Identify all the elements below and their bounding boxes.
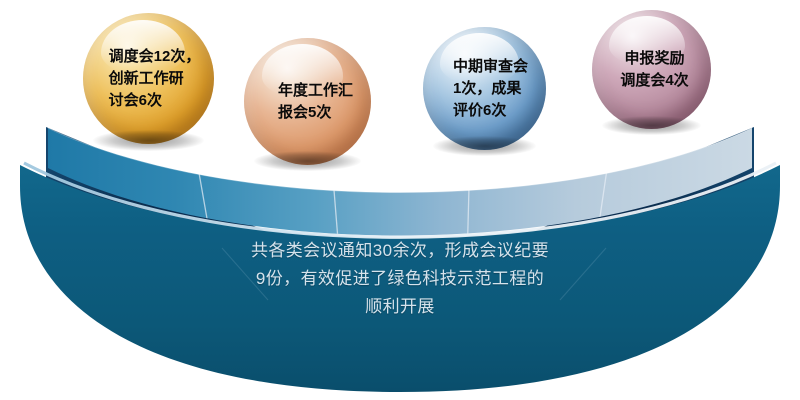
sphere-label-3: 中期审查会 1次，成果 评价6次 xyxy=(435,56,534,122)
sphere-label-4: 申报奖励 调度会4次 xyxy=(608,48,694,92)
sphere-node-3[interactable]: 中期审查会 1次，成果 评价6次 xyxy=(423,27,546,150)
diagram-canvas: 调度会12次， 创新工作研 讨会6次 年度工作汇 报会5次 中期审查会 1次，成… xyxy=(0,0,800,400)
sphere-node-1[interactable]: 调度会12次， 创新工作研 讨会6次 xyxy=(83,13,214,144)
sphere-label-2: 年度工作汇 报会5次 xyxy=(256,80,359,124)
sphere-node-4[interactable]: 申报奖励 调度会4次 xyxy=(592,10,711,129)
sphere-node-2[interactable]: 年度工作汇 报会5次 xyxy=(244,38,371,165)
banner-caption: 共各类会议通知30余次，形成会议纪要 9份，有效促进了绿色科技示范工程的 顺利开… xyxy=(200,237,600,321)
sphere-label-1: 调度会12次， 创新工作研 讨会6次 xyxy=(91,46,207,112)
